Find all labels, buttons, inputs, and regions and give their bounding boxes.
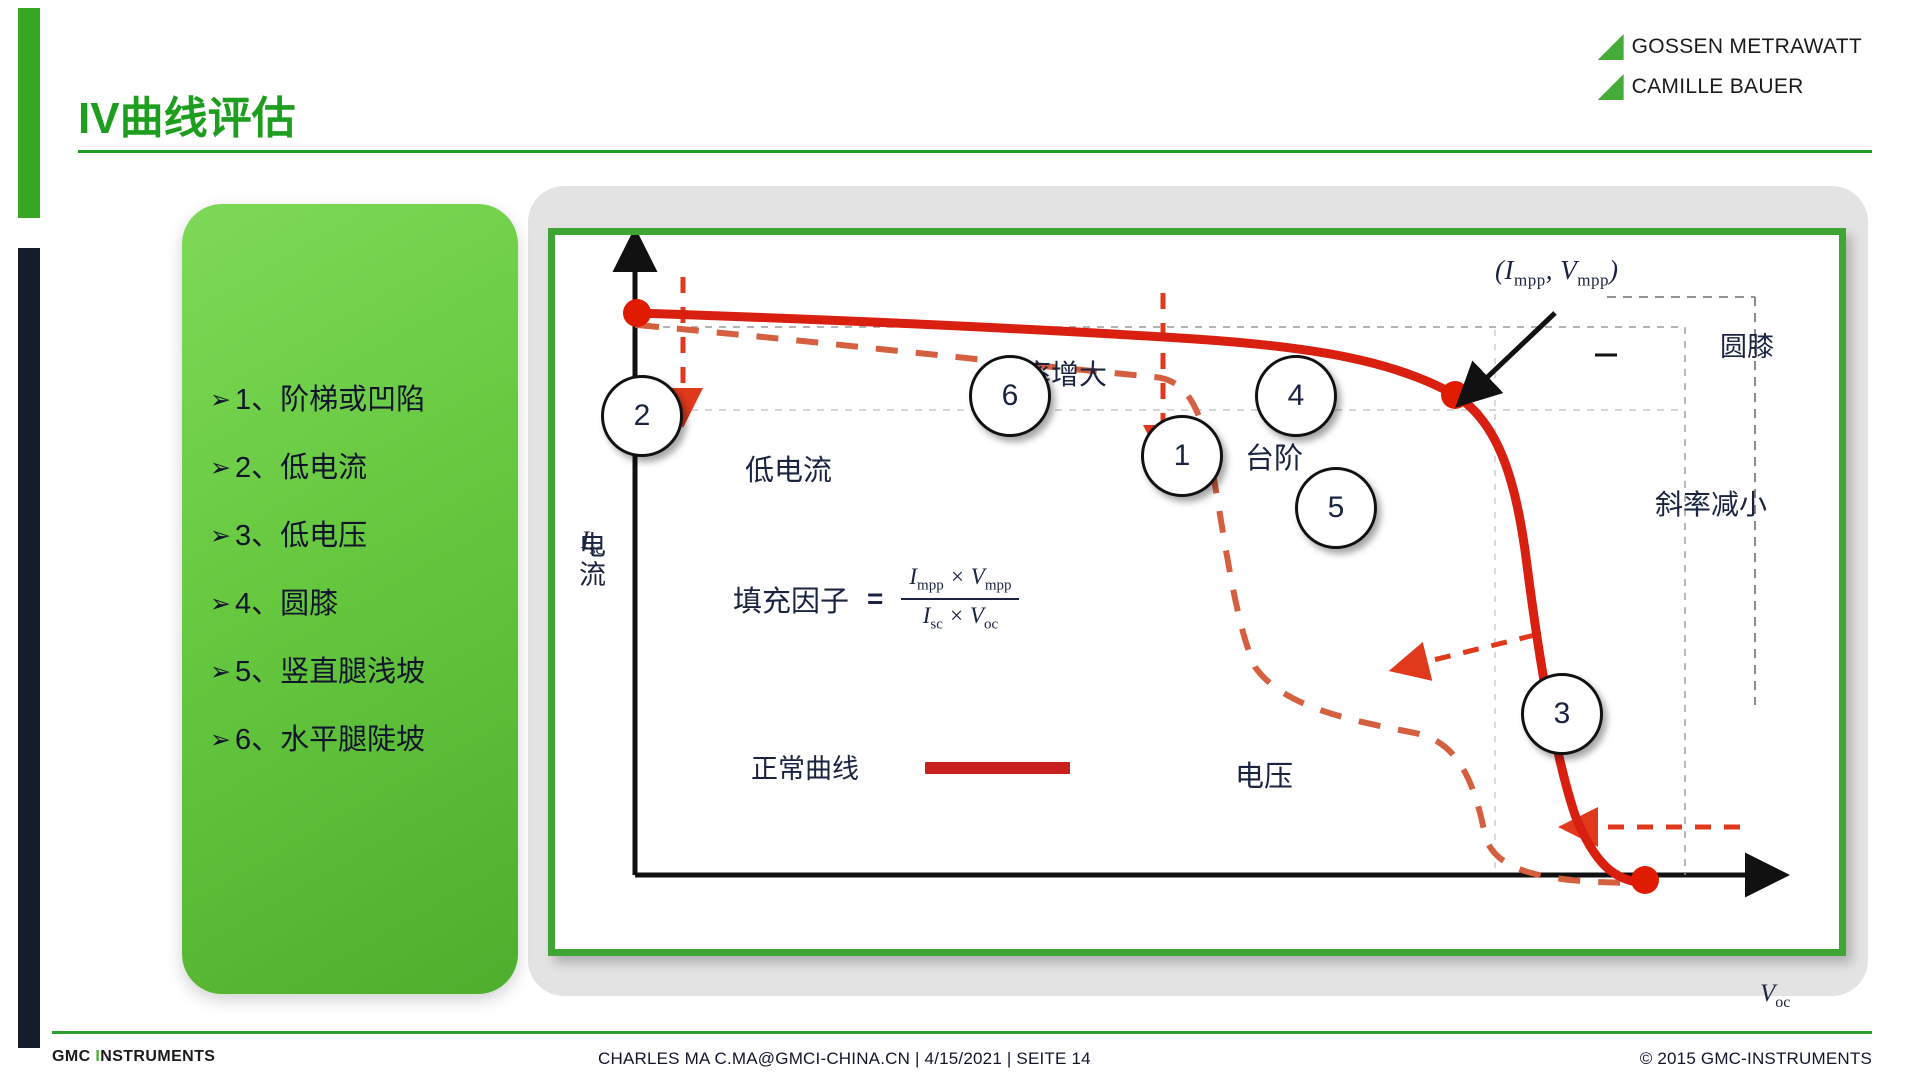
formula-fraction-bar (901, 598, 1019, 600)
arrow-bullet-icon: ➢ (210, 660, 231, 685)
annotation-slope-decrease: 斜率减小 (1655, 483, 1767, 523)
arrow-bullet-icon: ➢ (210, 592, 231, 617)
marker-isc (623, 299, 651, 327)
page-title: IV曲线评估 (78, 82, 296, 146)
callout-marker-2: 2 (601, 375, 683, 457)
accent-bar-green (18, 8, 40, 218)
marker-mpp (1441, 381, 1469, 409)
formula-fraction: Impp × Vmpp Isc × Voc (901, 564, 1019, 633)
arrow-bullet-icon: ➢ (210, 728, 231, 753)
accent-bar-dark (18, 248, 40, 1048)
footer-brand: GMC INSTRUMENTS (52, 1048, 215, 1066)
list-item: ➢ 3、低电压 (210, 512, 504, 554)
list-item: ➢ 6、水平腿陡坡 (210, 716, 504, 758)
brand-logo-block: GOSSEN METRAWATT CAMILLE BAUER (1598, 34, 1862, 100)
bullet-panel: ➢ 1、阶梯或凹陷 ➢ 2、低电流 ➢ 3、低电压 ➢ 4、圆膝 ➢ 5、竖直腿… (182, 204, 518, 994)
footer-brand-prefix: GMC (52, 1048, 95, 1065)
legend-label-normal-curve: 正常曲线 (751, 747, 859, 786)
callout-number: 4 (1288, 379, 1305, 413)
footer-meta: CHARLES MA C.MA@GMCI-CHINA.CN | 4/15/202… (598, 1049, 1091, 1069)
arrow-bullet-icon: ➢ (210, 524, 231, 549)
fill-factor-formula: 填充因子 = Impp × Vmpp Isc × Voc (733, 564, 1019, 633)
list-item-label: 4、圆膝 (235, 580, 338, 622)
callout-number: 3 (1554, 697, 1571, 731)
callout-marker-1: 1 (1141, 415, 1223, 497)
list-item: ➢ 1、阶梯或凹陷 (210, 376, 504, 418)
callout-number: 6 (1002, 379, 1019, 413)
brand-row-camille: CAMILLE BAUER (1598, 74, 1862, 100)
label-mpp-coordinates: (Impp, Vmpp) (1495, 255, 1618, 290)
brand-name-gossen: GOSSEN METRAWATT (1632, 35, 1862, 59)
footer-divider (52, 1031, 1872, 1034)
y-axis-label: 电流 (571, 531, 610, 589)
slide-root: IV曲线评估 GOSSEN METRAWATT CAMILLE BAUER ➢ … (0, 0, 1920, 1080)
triangle-icon (1598, 34, 1624, 60)
callout-number: 1 (1174, 439, 1191, 473)
footer-brand-suffix: NSTRUMENTS (100, 1048, 215, 1065)
callout-number: 5 (1328, 491, 1345, 525)
footer-copyright: © 2015 GMC-INSTRUMENTS (1640, 1049, 1872, 1069)
callout-marker-6: 6 (969, 355, 1051, 437)
formula-left-side: 填充因子 (733, 578, 849, 620)
annotation-step: 台阶 (1245, 435, 1303, 477)
callout-marker-5: 5 (1295, 467, 1377, 549)
triangle-icon (1598, 74, 1624, 100)
formula-numerator: Impp × Vmpp (901, 564, 1019, 595)
arrow-bullet-icon: ➢ (210, 456, 231, 481)
formula-equals: = (867, 583, 883, 615)
list-item-label: 1、阶梯或凹陷 (235, 376, 425, 418)
bullet-list: ➢ 1、阶梯或凹陷 ➢ 2、低电流 ➢ 3、低电压 ➢ 4、圆膝 ➢ 5、竖直腿… (210, 376, 504, 758)
list-item-label: 5、竖直腿浅坡 (235, 648, 425, 690)
brand-name-camille: CAMILLE BAUER (1632, 75, 1804, 99)
list-item-label: 3、低电压 (235, 512, 367, 554)
brand-row-gossen: GOSSEN METRAWATT (1598, 34, 1862, 60)
list-item-label: 6、水平腿陡坡 (235, 716, 425, 758)
marker-voc (1631, 866, 1659, 894)
label-voc: Voc (1760, 980, 1790, 1012)
title-underline (78, 150, 1872, 153)
iv-curve-chart: Isc Voc (Impp, Vmpp) 电流 电压 斜率增大 斜率减小 台阶 … (548, 228, 1846, 956)
formula-denominator: Isc × Voc (915, 603, 1006, 634)
list-item: ➢ 2、低电流 (210, 444, 504, 486)
arrow-bullet-icon: ➢ (210, 388, 231, 413)
x-axis-label: 电压 (1235, 753, 1293, 795)
annotation-round-knee: 圆膝 (1720, 325, 1774, 364)
list-item: ➢ 4、圆膝 (210, 580, 504, 622)
list-item: ➢ 5、竖直腿浅坡 (210, 648, 504, 690)
list-item-label: 2、低电流 (235, 444, 367, 486)
annotation-low-current: 低电流 (745, 447, 832, 489)
callout-number: 2 (634, 399, 651, 433)
callout-marker-4: 4 (1255, 355, 1337, 437)
legend-swatch-normal-curve (925, 762, 1070, 774)
callout-marker-3: 3 (1521, 673, 1603, 755)
mpp-pointer-arrow (1477, 313, 1555, 387)
